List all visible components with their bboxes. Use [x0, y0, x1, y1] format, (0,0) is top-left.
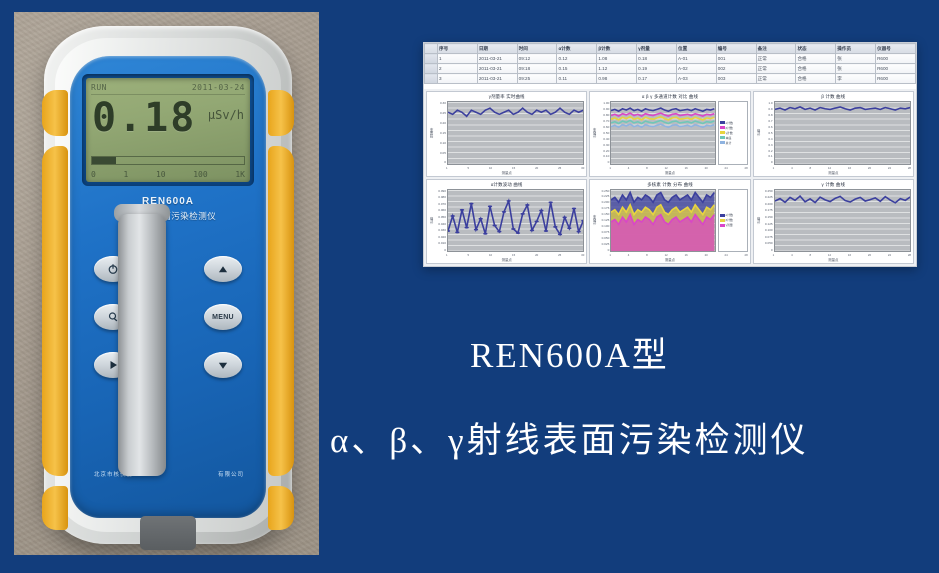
y-tick: 0.010 [435, 241, 446, 245]
chart-series-line [611, 113, 714, 116]
chart-plot-area [610, 189, 715, 253]
chart-y-ticks: 0.2500.2250.2000.1750.1500.1250.1000.075… [762, 189, 774, 253]
y-tick: 0.150 [598, 212, 609, 216]
y-tick: 0 [762, 248, 773, 252]
y-tick: 0.200 [762, 202, 773, 206]
chart-data-point [451, 214, 455, 216]
y-tick: 0.2 [762, 149, 773, 153]
table-cell: 002 [716, 64, 756, 74]
chart-title: α β γ 多通道计数 对比 曲线 [590, 92, 749, 101]
lcd-scale: 0 1 10 100 1K [91, 168, 245, 180]
chart-panel: α计数波动 曲线计数0.0900.0800.0700.0600.0500.040… [426, 179, 587, 265]
device-model-label: REN600A [70, 196, 266, 207]
y-tick: 0.8 [762, 113, 773, 117]
table-cell: 正常 [756, 74, 796, 84]
chart-data-point [448, 230, 450, 232]
chart-data-point [483, 232, 487, 234]
table-cell: 09:18 [517, 64, 557, 74]
chart-series-line [448, 108, 583, 116]
y-tick: 0.200 [598, 200, 609, 204]
y-tick: 0.40 [598, 137, 609, 141]
slide-root: RUN 2011-03-24 0.18 μSv/h 0 1 10 100 1K [0, 0, 939, 573]
chart-series-line [611, 117, 714, 120]
y-tick: 0.225 [762, 195, 773, 199]
lcd-tick: 1 [123, 170, 128, 179]
chart-plot-area [774, 101, 911, 165]
chart-data-point [544, 230, 548, 232]
y-tick: 0.15 [435, 131, 446, 135]
y-tick: 0.30 [435, 101, 446, 105]
y-tick: 0.7 [762, 119, 773, 123]
table-header-cell: 操作员 [836, 44, 876, 54]
chart-x-axis-label: 测量点 [427, 170, 586, 176]
legend-swatch [720, 219, 725, 222]
y-tick: 0.125 [762, 222, 773, 226]
y-tick: 0.25 [435, 111, 446, 115]
table-cell: 1.12 [597, 64, 637, 74]
chart-body: 计数0.0900.0800.0700.0600.0500.0400.0300.0… [427, 189, 586, 254]
legend-swatch [720, 224, 725, 227]
legend-swatch [720, 141, 725, 144]
chart-data-point [464, 226, 468, 228]
row-header [425, 74, 438, 84]
y-tick: 0.070 [435, 202, 446, 206]
y-tick: 0.10 [598, 154, 609, 158]
chart-y-axis-label: 剂量率 [428, 101, 435, 165]
device-front-panel: RUN 2011-03-24 0.18 μSv/h 0 1 10 100 1K [70, 56, 266, 518]
legend-item: 本底 [720, 136, 746, 140]
table-cell: 合格 [796, 74, 836, 84]
chart-x-axis-label: 测量点 [590, 257, 749, 263]
y-tick: 0.10 [435, 141, 446, 145]
chart-y-axis-label: 计数 [755, 101, 762, 165]
chart-data-point [535, 220, 539, 222]
chart-plot-area [447, 189, 584, 253]
table-header-cell: β计数 [597, 44, 637, 54]
y-tick: 0.9 [762, 107, 773, 111]
table-cell: 0.12 [557, 54, 597, 64]
chart-title: α计数波动 曲线 [427, 180, 586, 189]
y-tick: 0.3 [762, 143, 773, 147]
table-cell: 1.08 [597, 54, 637, 64]
legend-swatch [720, 136, 725, 139]
lcd-status-right: 2011-03-24 [192, 83, 245, 92]
chart-y-axis-label: 计数率 [591, 189, 598, 253]
chart-data-point [469, 202, 473, 204]
y-tick: 0.90 [598, 107, 609, 111]
legend-label: 本底 [726, 136, 732, 140]
table-cell: 张 [836, 54, 876, 64]
sensor-cap [140, 516, 196, 550]
legend-label: γ剂量 [726, 223, 733, 227]
software-screenshot: 序号日期时间α计数β计数γ剂量位置编号备注状态操作员仪器号12011-03-21… [423, 42, 917, 267]
y-tick: 0 [435, 160, 446, 164]
y-tick: 0.6 [762, 125, 773, 129]
y-tick: 0.50 [598, 131, 609, 135]
table-row: 序号日期时间α计数β计数γ剂量位置编号备注状态操作员仪器号 [425, 44, 916, 54]
product-title-line1: REN600A型 [470, 327, 900, 378]
y-tick: 0.040 [435, 222, 446, 226]
legend-item: 总计 [720, 141, 746, 145]
legend-swatch [720, 131, 725, 134]
detector-device: RUN 2011-03-24 0.18 μSv/h 0 1 10 100 1K [44, 26, 292, 544]
y-tick: 0.225 [598, 194, 609, 198]
chart-y-ticks: 1.00.90.80.70.60.50.40.30.20.10 [762, 101, 774, 165]
y-tick: 0.05 [435, 151, 446, 155]
chart-body: 计数率0.2500.2250.2000.1750.1500.1250.1000.… [590, 189, 749, 254]
y-tick: 0.050 [598, 236, 609, 240]
table-row: 12011-03-2109:120.121.080.18A-01001正常合格张… [425, 54, 916, 64]
chart-panel: γ剂量率 实时曲线剂量率0.300.250.200.150.100.050151… [426, 91, 587, 177]
legend-swatch [720, 214, 725, 217]
chart-title: 多核素 计数 分布 曲线 [590, 180, 749, 189]
table-cell: 003 [716, 74, 756, 84]
chart-data-point [479, 217, 483, 219]
table-cell: R600 [876, 54, 916, 64]
product-photo: RUN 2011-03-24 0.18 μSv/h 0 1 10 100 1K [14, 12, 319, 555]
chart-data-point [558, 233, 562, 235]
chart-data-point [567, 227, 571, 229]
y-tick: 0.050 [762, 241, 773, 245]
chart-data-point [455, 231, 459, 233]
table-cell: 1 [438, 54, 478, 64]
y-tick: 0.20 [435, 121, 446, 125]
chart-series-line [611, 124, 714, 127]
table-cell: 0.18 [637, 54, 677, 64]
table-cell: 2 [438, 64, 478, 74]
chart-panel: 多核素 计数 分布 曲线计数率0.2500.2250.2000.1750.150… [589, 179, 750, 265]
table-cell: 正常 [756, 54, 796, 64]
y-tick: 0.60 [598, 125, 609, 129]
table-cell: 0.19 [637, 64, 677, 74]
lcd-display: RUN 2011-03-24 0.18 μSv/h 0 1 10 100 1K [86, 78, 250, 182]
y-tick: 0.060 [435, 208, 446, 212]
y-tick: 0.20 [598, 149, 609, 153]
table-header-cell: 状态 [796, 44, 836, 54]
lcd-tick: 100 [193, 170, 207, 179]
chart-data-point [460, 208, 464, 210]
chart-data-point [572, 207, 576, 209]
legend-swatch [720, 121, 725, 124]
down-button[interactable] [204, 352, 242, 378]
table-cell: 2011-03-21 [477, 54, 517, 64]
table-cell: 0.15 [557, 64, 597, 74]
row-header [425, 44, 438, 54]
legend-item: β计数 [720, 126, 746, 130]
grip-left-top [42, 90, 68, 136]
triangle-down-icon [217, 360, 229, 371]
menu-button[interactable]: MENU [204, 304, 242, 330]
table-cell: 正常 [756, 64, 796, 74]
lcd-tick: 1K [235, 170, 245, 179]
table-header-cell: γ剂量 [637, 44, 677, 54]
chart-data-point [525, 204, 529, 206]
y-tick: 0.175 [598, 206, 609, 210]
table-header-cell: α计数 [557, 44, 597, 54]
chart-data-point [548, 201, 552, 203]
y-tick: 0.30 [598, 143, 609, 147]
chart-legend: α计数β计数γ剂量 [718, 189, 748, 253]
y-tick: 0.70 [598, 119, 609, 123]
legend-label: α计数 [726, 213, 733, 217]
legend-swatch [720, 126, 725, 129]
chart-y-ticks: 0.300.250.200.150.100.050 [435, 101, 447, 165]
chart-data-point [520, 212, 524, 214]
table-header-cell: 时间 [517, 44, 557, 54]
table-cell: R600 [876, 64, 916, 74]
y-tick: 1.0 [762, 101, 773, 105]
y-tick: 0.080 [435, 195, 446, 199]
lcd-tick: 10 [156, 170, 166, 179]
table-row: 32011-03-2109:250.110.980.17A-03003正常合格李… [425, 74, 916, 84]
grip-left [42, 146, 68, 476]
table-cell: 张 [836, 64, 876, 74]
lcd-bezel: RUN 2011-03-24 0.18 μSv/h 0 1 10 100 1K [82, 74, 254, 186]
y-tick: 0 [598, 248, 609, 252]
chart-body: 计数1.00.90.80.70.60.50.40.30.20.10 [754, 101, 913, 166]
table-cell: 合格 [796, 54, 836, 64]
lcd-bargraph [91, 156, 245, 165]
chart-data-point [581, 219, 583, 221]
table-cell: 2011-03-21 [477, 64, 517, 74]
device-fineprint-right: 有限公司 [218, 470, 244, 478]
handle-strap [118, 214, 166, 476]
y-tick: 0.025 [598, 242, 609, 246]
y-tick: 0.250 [598, 189, 609, 193]
grip-right-top [268, 90, 294, 136]
y-tick: 0 [435, 248, 446, 252]
chart-y-axis-label: 计数 [755, 189, 762, 253]
table-cell: 09:12 [517, 54, 557, 64]
chart-data-point [497, 230, 501, 232]
table-row: 22011-03-2109:180.151.120.19A-02002正常合格张… [425, 64, 916, 74]
table-cell: 001 [716, 54, 756, 64]
table-header-cell: 序号 [438, 44, 478, 54]
y-tick: 0.1 [762, 154, 773, 158]
chart-plot-area [447, 101, 584, 165]
chart-x-axis-label: 测量点 [754, 257, 913, 263]
menu-button-label: MENU [212, 314, 234, 321]
lcd-value: 0.18 [92, 98, 196, 138]
grip-left-bottom [42, 486, 68, 530]
table-header-cell: 位置 [676, 44, 716, 54]
data-table: 序号日期时间α计数β计数γ剂量位置编号备注状态操作员仪器号12011-03-21… [424, 43, 916, 84]
chart-data-point [516, 232, 520, 234]
chart-legend: α计数β计数γ计数本底总计 [718, 101, 748, 165]
lcd-status-bar: RUN 2011-03-24 [91, 81, 245, 95]
triangle-up-icon [217, 264, 229, 275]
table-header-cell: 编号 [716, 44, 756, 54]
y-tick: 0.80 [598, 113, 609, 117]
chart-x-axis-label: 测量点 [427, 257, 586, 263]
y-tick: 0.090 [435, 189, 446, 193]
chart-y-axis-label: 计数 [428, 189, 435, 253]
chart-title: γ剂量率 实时曲线 [427, 92, 586, 101]
chart-title: γ 计数 曲线 [754, 180, 913, 189]
y-tick: 0.050 [435, 215, 446, 219]
y-tick: 0.020 [435, 235, 446, 239]
y-tick: 0 [598, 160, 609, 164]
chart-y-ticks: 0.0900.0800.0700.0600.0500.0400.0300.020… [435, 189, 447, 253]
y-tick: 0.5 [762, 131, 773, 135]
legend-item: β计数 [720, 218, 746, 222]
y-tick: 0.075 [598, 230, 609, 234]
chart-data-point [507, 199, 511, 201]
row-header [425, 54, 438, 64]
y-tick: 1.00 [598, 101, 609, 105]
grip-right [268, 146, 294, 476]
y-tick: 0.175 [762, 208, 773, 212]
chart-body: 剂量率0.300.250.200.150.100.050 [427, 101, 586, 166]
chart-body: 计数0.2500.2250.2000.1750.1500.1250.1000.0… [754, 189, 913, 254]
chart-data-point [502, 210, 506, 212]
grip-right-bottom [268, 486, 294, 530]
up-button[interactable] [204, 256, 242, 282]
legend-label: β计数 [726, 218, 733, 222]
legend-label: γ计数 [726, 131, 733, 135]
chart-series-line [775, 196, 910, 203]
product-title-line2: α、β、γ射线表面污染检测仪 [330, 412, 930, 463]
y-tick: 0.150 [762, 215, 773, 219]
table-header-cell: 仪器号 [876, 44, 916, 54]
table-cell: 李 [836, 74, 876, 84]
table-cell: 3 [438, 74, 478, 84]
charts-grid: γ剂量率 实时曲线剂量率0.300.250.200.150.100.050151… [424, 89, 916, 266]
table-cell: 09:25 [517, 74, 557, 84]
table-header-cell: 备注 [756, 44, 796, 54]
legend-label: 总计 [726, 141, 732, 145]
chart-data-point [511, 227, 515, 229]
lcd-unit: μSv/h [208, 108, 244, 122]
table-cell: 合格 [796, 64, 836, 74]
lcd-tick: 0 [91, 170, 96, 179]
chart-series-line [775, 107, 910, 110]
chart-panel: β 计数 曲线计数1.00.90.80.70.60.50.40.30.20.10… [753, 91, 914, 177]
chart-data-point [553, 225, 557, 227]
chart-data-point [492, 224, 496, 226]
table-cell: R600 [876, 74, 916, 84]
row-header [425, 64, 438, 74]
chart-x-axis-label: 测量点 [754, 170, 913, 176]
lcd-status-left: RUN [91, 83, 107, 92]
chart-plot-area [610, 101, 715, 165]
y-tick: 0.4 [762, 137, 773, 141]
legend-item: γ剂量 [720, 223, 746, 227]
chart-data-point [488, 205, 492, 207]
chart-data-point [563, 216, 567, 218]
table-cell: A-02 [676, 64, 716, 74]
chart-data-point [474, 228, 478, 230]
legend-item: γ计数 [720, 131, 746, 135]
chart-y-axis-label: 计数率 [591, 101, 598, 165]
table-cell: A-03 [676, 74, 716, 84]
y-tick: 0.075 [762, 235, 773, 239]
table-cell: 0.11 [557, 74, 597, 84]
chart-data-point [539, 209, 543, 211]
legend-label: α计数 [726, 121, 733, 125]
chart-series-line [611, 108, 714, 111]
y-tick: 0 [762, 160, 773, 164]
table-cell: 0.98 [597, 74, 637, 84]
y-tick: 0.100 [598, 224, 609, 228]
chart-y-ticks: 1.000.900.800.700.600.500.400.300.200.10… [598, 101, 610, 165]
y-tick: 0.030 [435, 228, 446, 232]
table-cell: A-01 [676, 54, 716, 64]
table-cell: 2011-03-21 [477, 74, 517, 84]
y-tick: 0.125 [598, 218, 609, 222]
chart-data-point [530, 229, 534, 231]
chart-title: β 计数 曲线 [754, 92, 913, 101]
chart-series-line [611, 120, 714, 123]
chart-plot-area [774, 189, 911, 253]
y-tick: 0.250 [762, 189, 773, 193]
chart-x-axis-label: 测量点 [590, 170, 749, 176]
table-cell: 0.17 [637, 74, 677, 84]
chart-panel: γ 计数 曲线计数0.2500.2250.2000.1750.1500.1250… [753, 179, 914, 265]
table-header-cell: 日期 [477, 44, 517, 54]
chart-panel: α β γ 多通道计数 对比 曲线计数率1.000.900.800.700.60… [589, 91, 750, 177]
legend-item: α计数 [720, 121, 746, 125]
legend-item: α计数 [720, 213, 746, 217]
y-tick: 0.100 [762, 228, 773, 232]
chart-data-point [576, 230, 580, 232]
chart-y-ticks: 0.2500.2250.2000.1750.1500.1250.1000.075… [598, 189, 610, 253]
legend-label: β计数 [726, 126, 733, 130]
chart-body: 计数率1.000.900.800.700.600.500.400.300.200… [590, 101, 749, 166]
